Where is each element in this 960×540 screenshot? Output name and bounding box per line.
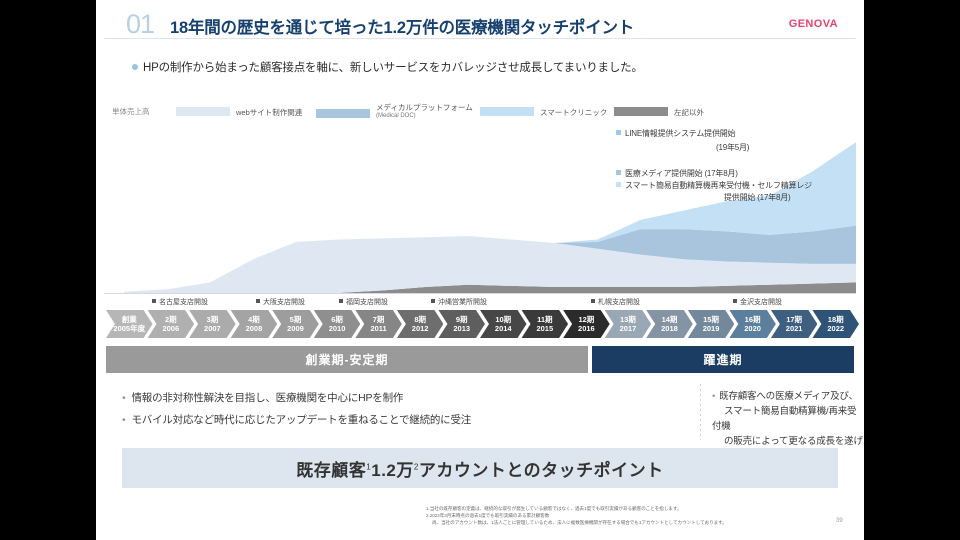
legend-swatch-web <box>176 107 230 116</box>
branch-square-icon <box>733 299 737 303</box>
legend-label-smart-clinic: スマートクリニック <box>540 109 607 117</box>
legend-swatch-smart-clinic <box>480 107 534 116</box>
branch-label: 札幌支店開設 <box>598 299 640 306</box>
timeline-chevron[interactable]: 10期2014 <box>480 310 527 338</box>
revenue-area-chart: 単体売上高 webサイト制作関連 メディカルプラットフォーム(Medical D… <box>104 98 856 294</box>
column-divider <box>700 384 701 440</box>
branch-marker: 福岡支店開設 <box>339 297 388 307</box>
branch-label: 名古屋支店開設 <box>159 299 208 306</box>
timeline-chevron[interactable]: 15期2019 <box>688 310 735 338</box>
timeline-chevron[interactable]: 創業2005年度 <box>106 310 153 338</box>
branch-marker: 金沢支店開設 <box>733 297 782 307</box>
timeline-year: 2006 <box>148 324 195 333</box>
bullet-left-1: •情報の非対称性解決を目指し、医療機関を中心にHPを制作 <box>122 390 403 405</box>
legend-label-web: webサイト制作関連 <box>236 109 302 117</box>
timeline-period: 13期 <box>605 310 652 324</box>
timeline-period: 2期 <box>148 310 195 324</box>
legend-item-smart-clinic: スマートクリニック <box>480 104 607 118</box>
timeline-chevron[interactable]: 6期2010 <box>314 310 361 338</box>
page-title: 18年間の歴史を通じて培った1.2万件の医療機関タッチポイント <box>170 14 634 38</box>
legend-swatch-other <box>614 107 668 116</box>
banner-text: 既存顧客11.2万2アカウントとのタッチポイント <box>296 456 663 481</box>
legend-item-web: webサイト制作関連 <box>176 104 302 118</box>
footnotes: 1.当社の既存顧客の定義は、継続的な取引が発生している顧客ではなく、過去1度でも… <box>426 505 826 526</box>
timeline-chevron[interactable]: 3期2007 <box>189 310 236 338</box>
timeline-year: 2022 <box>812 324 859 333</box>
slide-canvas: 01 18年間の歴史を通じて培った1.2万件の医療機関タッチポイント GENOV… <box>96 0 864 540</box>
timeline-period: 14期 <box>646 310 693 324</box>
letterbox-left <box>0 0 96 540</box>
branch-square-icon <box>339 299 343 303</box>
timeline-year: 2018 <box>646 324 693 333</box>
fiscal-timeline: 創業2005年度2期20063期20074期20085期20096期20107期… <box>106 310 854 338</box>
timeline-year: 2020 <box>729 324 776 333</box>
branch-label: 福岡支店開設 <box>346 299 388 306</box>
timeline-year: 2011 <box>355 324 402 333</box>
timeline-year: 2008 <box>231 324 278 333</box>
branch-square-icon <box>431 299 435 303</box>
bullet-right-2: スマート簡易自動精算機/再来受付機 <box>712 406 856 432</box>
timeline-period: 8期 <box>397 310 444 324</box>
timeline-chevron[interactable]: 2期2006 <box>148 310 195 338</box>
timeline-year: 2012 <box>397 324 444 333</box>
bullet-dot-icon <box>132 64 138 70</box>
timeline-chevron[interactable]: 7期2011 <box>355 310 402 338</box>
header-divider <box>104 38 856 39</box>
phase-label-founding: 創業期-安定期 <box>106 346 588 373</box>
footnote-3: 尚、当社のアカウント数は、1法人ごとに管理しているため、法人に複数医療機関が存在… <box>426 519 826 526</box>
timeline-period: 3期 <box>189 310 236 324</box>
timeline-chevron[interactable]: 17期2021 <box>771 310 818 338</box>
timeline-year: 2021 <box>771 324 818 333</box>
bullet-marker-icon: • <box>122 414 125 426</box>
annotation-marker-icon <box>616 182 621 187</box>
timeline-year: 2009 <box>272 324 319 333</box>
timeline-year: 2015 <box>522 324 569 333</box>
annotation-line-system-date: (19年5月) <box>716 142 749 153</box>
timeline-period: 4期 <box>231 310 278 324</box>
timeline-chevron[interactable]: 11期2015 <box>522 310 569 338</box>
timeline-chevron[interactable]: 5期2009 <box>272 310 319 338</box>
bullet-left-2: •モバイル対応など時代に応じたアップデートを重ねることで継続的に受注 <box>122 412 471 427</box>
timeline-period: 5期 <box>272 310 319 324</box>
letterbox-right <box>864 0 960 540</box>
timeline-period: 17期 <box>771 310 818 324</box>
timeline-year: 2007 <box>189 324 236 333</box>
legend-label-other: 左記以外 <box>674 109 704 117</box>
annotation-smart-kiosk: スマート簡易自動精算機再来受付機・セルフ精算レジ <box>616 180 812 191</box>
branch-marker: 名古屋支店開設 <box>152 297 208 307</box>
axis-label-revenue: 単体売上高 <box>112 106 150 117</box>
timeline-period: 創業 <box>106 310 153 324</box>
bullet-marker-icon: • <box>122 392 125 404</box>
timeline-period: 15期 <box>688 310 735 324</box>
touchpoint-banner: 既存顧客11.2万2アカウントとのタッチポイント <box>122 448 838 488</box>
timeline-chevron[interactable]: 18期2022 <box>812 310 859 338</box>
lead-statement: HPの制作から始まった顧客接点を軸に、新しいサービスをカバレッジさせ成長してまい… <box>132 59 643 75</box>
branch-label: 大阪支店開設 <box>263 299 305 306</box>
branch-openings-row: 名古屋支店開設大阪支店開設福岡支店開設沖縄営業所開設札幌支店開設金沢支店開設 <box>104 297 856 309</box>
annotation-medical-media: 医療メディア提供開始 (17年8月) <box>616 168 738 179</box>
phase-label-growth: 躍進期 <box>592 346 854 373</box>
branch-label: 金沢支店開設 <box>740 299 782 306</box>
branch-marker: 札幌支店開設 <box>591 297 640 307</box>
legend-item-other: 左記以外 <box>614 104 704 118</box>
timeline-period: 18期 <box>812 310 859 324</box>
branch-square-icon <box>591 299 595 303</box>
branch-square-icon <box>152 299 156 303</box>
genova-logo: GENOVA <box>789 18 838 30</box>
timeline-period: 11期 <box>522 310 569 324</box>
timeline-year: 2019 <box>688 324 735 333</box>
branch-marker: 沖縄営業所開設 <box>431 297 487 307</box>
timeline-chevron[interactable]: 4期2008 <box>231 310 278 338</box>
annotation-marker-icon <box>616 130 621 135</box>
timeline-chevron[interactable]: 12期2016 <box>563 310 610 338</box>
timeline-period: 9期 <box>438 310 485 324</box>
legend-sublabel-medical-doc: (Medical DOC) <box>376 112 473 120</box>
timeline-year: 2013 <box>438 324 485 333</box>
branch-marker: 大阪支店開設 <box>256 297 305 307</box>
annotation-marker-icon <box>616 170 621 175</box>
lead-text: HPの制作から始まった顧客接点を軸に、新しいサービスをカバレッジさせ成長してまい… <box>143 62 643 74</box>
legend-swatch-medical-platform <box>316 109 370 118</box>
slide-header: 01 18年間の歴史を通じて培った1.2万件の医療機関タッチポイント GENOV… <box>96 8 864 42</box>
timeline-period: 7期 <box>355 310 402 324</box>
timeline-chevron[interactable]: 16期2020 <box>729 310 776 338</box>
timeline-chevron[interactable]: 8期2012 <box>397 310 444 338</box>
footnote-2: 2.2022年3月末時点の過去1度でも取引実績のある累計顧客数 <box>426 512 826 519</box>
timeline-period: 12期 <box>563 310 610 324</box>
footnote-1: 1.当社の既存顧客の定義は、継続的な取引が発生している顧客ではなく、過去1度でも… <box>426 505 826 512</box>
legend-item-medical-platform: メディカルプラットフォーム(Medical DOC) <box>316 104 473 118</box>
branch-square-icon <box>256 299 260 303</box>
annotation-smart-kiosk-date: 提供開始 (17年8月) <box>724 192 791 203</box>
annotation-line-system: LINE情報提供システム提供開始 <box>616 128 735 139</box>
timeline-year: 2014 <box>480 324 527 333</box>
bullet-right-1: 既存顧客への医療メディア及び、 <box>719 391 858 402</box>
timeline-year: 2010 <box>314 324 361 333</box>
timeline-chevron[interactable]: 14期2018 <box>646 310 693 338</box>
chart-legend: 単体売上高 webサイト制作関連 メディカルプラットフォーム(Medical D… <box>108 102 856 124</box>
branch-label: 沖縄営業所開設 <box>438 299 487 306</box>
timeline-period: 6期 <box>314 310 361 324</box>
timeline-period: 16期 <box>729 310 776 324</box>
timeline-year: 2016 <box>563 324 610 333</box>
page-number: 39 <box>836 518 843 524</box>
timeline-chevron[interactable]: 9期2013 <box>438 310 485 338</box>
bullet-marker-icon: • <box>712 391 715 402</box>
timeline-period: 10期 <box>480 310 527 324</box>
timeline-year: 2017 <box>605 324 652 333</box>
timeline-year: 2005年度 <box>106 324 153 333</box>
section-number: 01 <box>126 9 154 40</box>
timeline-chevron[interactable]: 13期2017 <box>605 310 652 338</box>
legend-label-medical-platform: メディカルプラットフォーム(Medical DOC) <box>376 104 473 120</box>
